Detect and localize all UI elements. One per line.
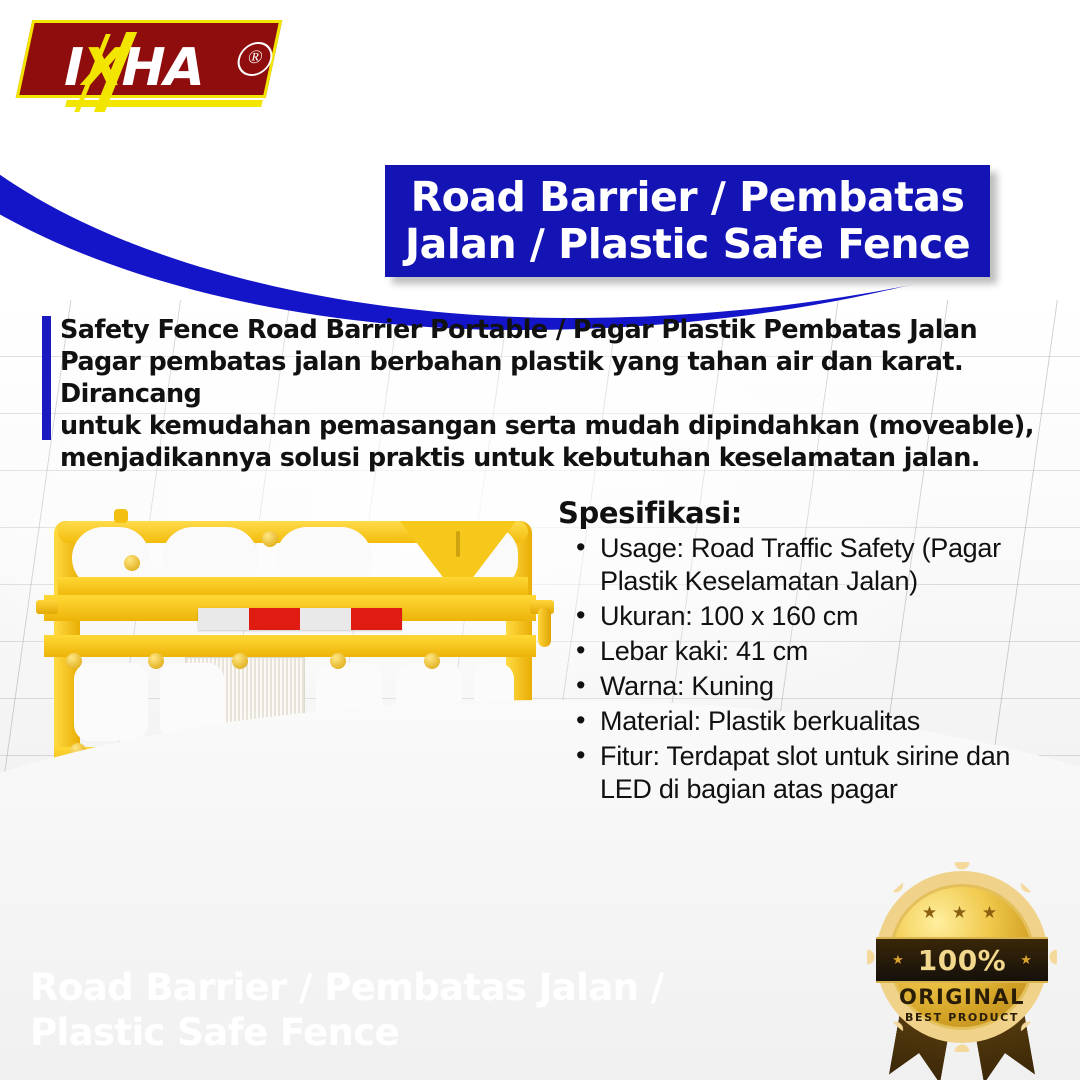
badge-star-left-icon: ★ — [892, 952, 904, 968]
footer-title-line-1: Road Barrier / Pembatas Jalan / — [30, 966, 664, 1009]
ixha-logo: IXHA ® — [24, 20, 274, 98]
barrier-knob-mid-2 — [148, 653, 164, 669]
spec-item: Lebar kaki: 41 cm — [568, 635, 1068, 668]
description-line-2: Pagar pembatas jalan berbahan plastik ya… — [60, 346, 1060, 410]
specifications-heading: Spesifikasi: — [558, 496, 742, 530]
barrier-knob-mid-4 — [330, 653, 346, 669]
barrier-siren-led-slot — [456, 531, 460, 557]
barrier-knob-mid-3 — [232, 653, 248, 669]
barrier-mid-rail-lower — [44, 635, 536, 657]
barrier-second-rail — [58, 577, 528, 597]
footer-title-line-2: Plastic Safe Fence — [30, 1011, 399, 1054]
logo-letters-ha: HA — [115, 38, 210, 98]
spec-item: Warna: Kuning — [568, 670, 1068, 703]
logo-yellow-bar — [65, 100, 262, 107]
barrier-lower-opening-1 — [74, 663, 148, 741]
barrier-knob-mid-left — [66, 653, 82, 669]
reflective-strip — [198, 608, 402, 630]
badge-dark-band: ★ 100% ★ — [876, 937, 1048, 983]
description-line-3: untuk kemudahan pemasangan serta mudah d… — [60, 410, 1060, 442]
barrier-latch-right-hook — [538, 607, 551, 647]
badge-stars-icon: ★ ★ ★ — [889, 903, 1035, 923]
footer-title: Road Barrier / Pembatas Jalan / Plastic … — [30, 965, 730, 1055]
spec-item: Usage: Road Traffic Safety (Pagar Plasti… — [568, 532, 1068, 598]
badge-percent-text: 100% — [918, 944, 1007, 977]
page-title-line-1: Road Barrier / Pembatas — [411, 173, 965, 221]
barrier-top-nub — [114, 509, 128, 523]
page-title: Road Barrier / Pembatas Jalan / Plastic … — [400, 174, 975, 268]
barrier-knob-top-left — [124, 555, 140, 571]
badge-original-text: ORIGINAL — [889, 985, 1035, 1009]
description-line-1: Safety Fence Road Barrier Portable / Pag… — [60, 314, 1060, 346]
description-accent-bar — [42, 316, 51, 440]
product-marketing-banner: IXHA ® Road Barrier / Pembatas Jalan / P… — [0, 0, 1080, 1080]
reflective-segment-white-2 — [300, 608, 351, 630]
badge-star-right-icon: ★ — [1020, 952, 1032, 968]
barrier-knob-mid-5 — [424, 653, 440, 669]
registered-trademark-icon: ® — [234, 42, 275, 76]
logo-wordmark: IXHA — [58, 42, 208, 94]
barrier-knob-top-center — [262, 531, 278, 547]
specifications-list: Usage: Road Traffic Safety (Pagar Plasti… — [568, 532, 1068, 808]
original-product-badge: ★ ★ ★ ★ 100% ★ ORIGINAL BEST PRODUCT — [862, 865, 1062, 1070]
spec-item: Fitur: Terdapat slot untuk sirine dan LE… — [568, 740, 1068, 806]
spec-item: Material: Plastik berkualitas — [568, 705, 1068, 738]
badge-best-product-text: BEST PRODUCT — [889, 1011, 1035, 1024]
reflective-segment-red-1 — [249, 608, 300, 630]
reflective-segment-white-1 — [198, 608, 249, 630]
product-description: Safety Fence Road Barrier Portable / Pag… — [60, 314, 1060, 474]
page-title-line-2: Jalan / Plastic Safe Fence — [405, 220, 970, 268]
page-title-box: Road Barrier / Pembatas Jalan / Plastic … — [385, 165, 990, 277]
description-line-4: menjadikannya solusi praktis untuk kebut… — [60, 442, 1060, 474]
reflective-segment-red-2 — [351, 608, 402, 630]
spec-item: Ukuran: 100 x 160 cm — [568, 600, 1068, 633]
barrier-latch-left — [36, 600, 58, 614]
